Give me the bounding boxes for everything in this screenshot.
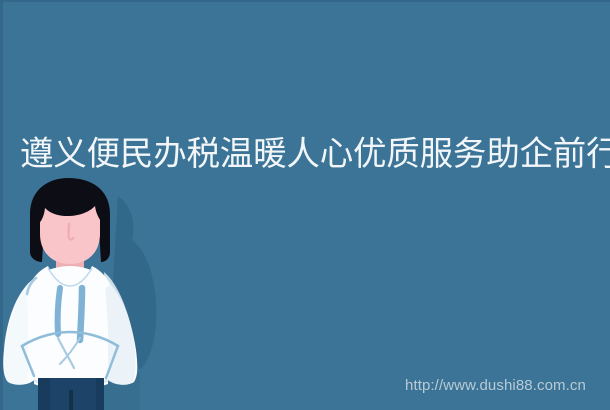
headline-text: 遵义便民办税温暖人心优质服务助企前行 [20,133,598,177]
pants [38,378,104,410]
source-url-watermark: http://www.dushi88.com.cn [405,377,586,394]
drawstring-left-icon [58,288,60,334]
hoodie-person-illustration [0,178,180,410]
promotional-banner: 遵义便民办税温暖人心优质服务助企前行 http://www.dushi88.co… [0,0,610,410]
